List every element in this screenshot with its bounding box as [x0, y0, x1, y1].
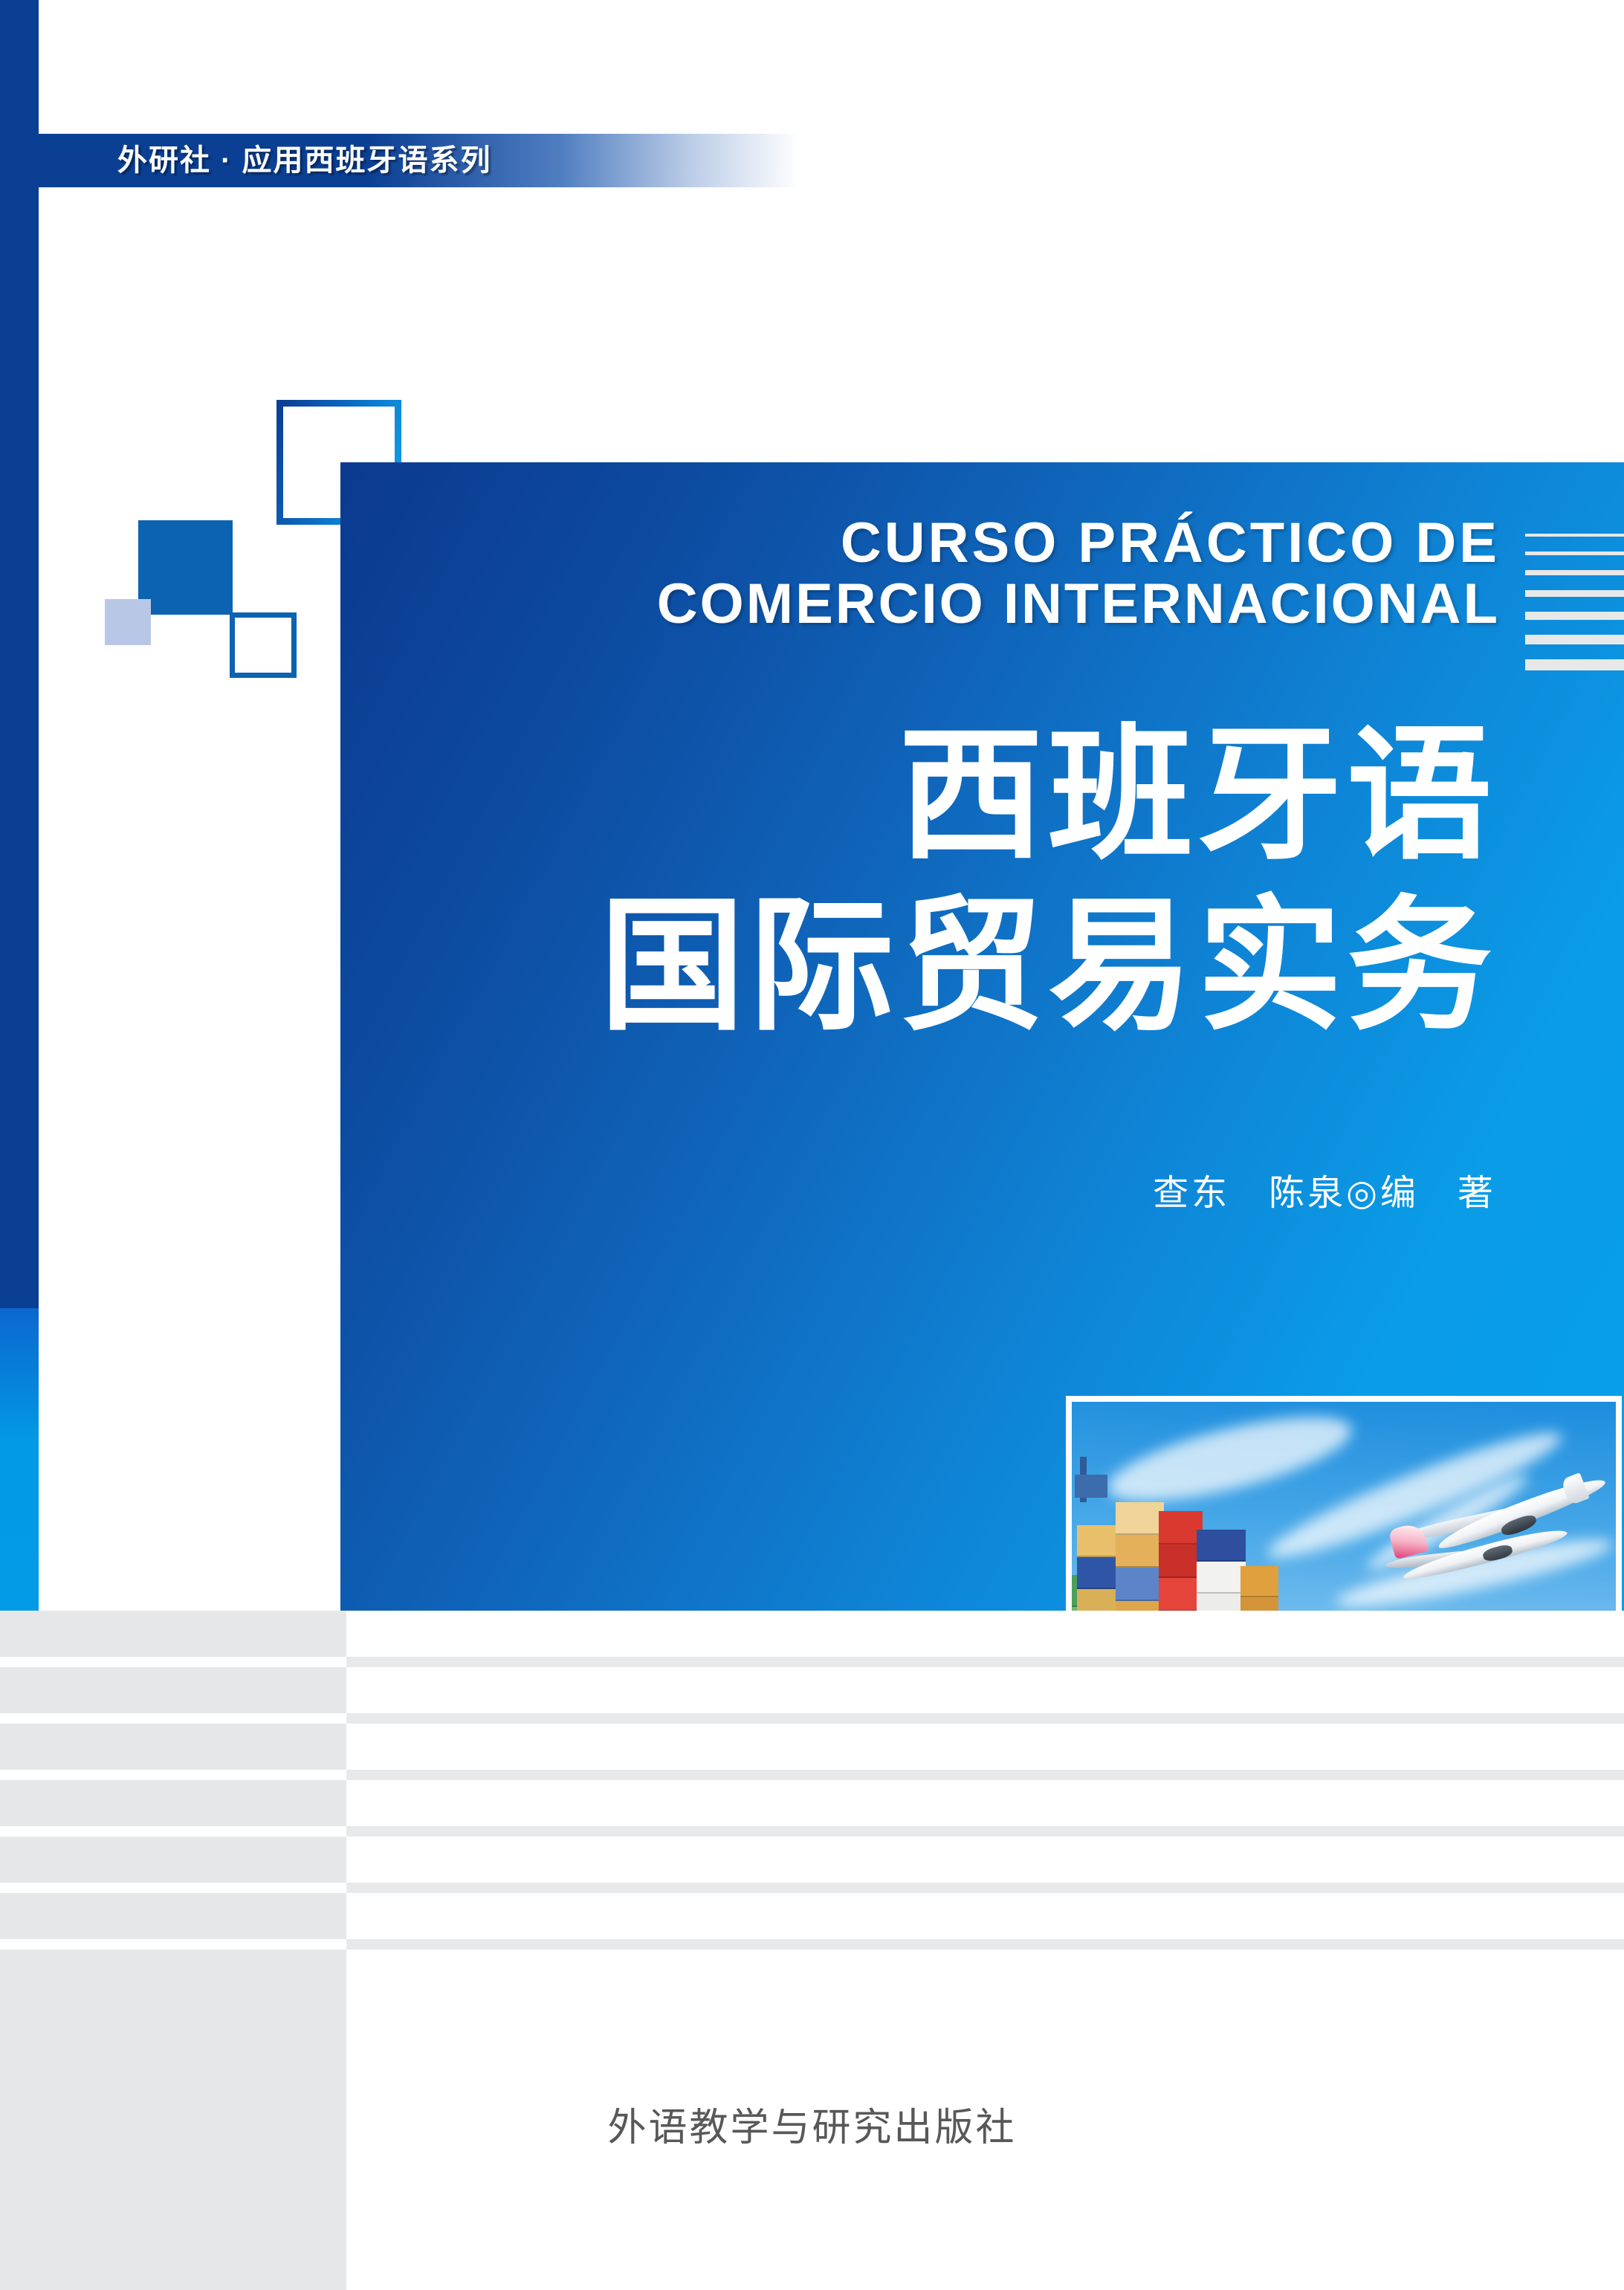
decorative-square-outline-small — [230, 612, 297, 678]
chinese-title-line-2: 国际贸易实务 — [340, 881, 1496, 1052]
spanish-title-line-1: CURSO PRÁCTICO DE — [340, 513, 1500, 574]
author-line: 查东 陈泉◎编 著 — [340, 1163, 1496, 1215]
cloud-shape — [1101, 1402, 1358, 1518]
book-cover: 外研社 · 应用西班牙语系列 CURSO PRÁCTICO DE COMERCI… — [0, 0, 1624, 2290]
decorative-square-lavender — [105, 599, 151, 645]
publisher-name: 外语教学与研究出版社 — [0, 2096, 1624, 2152]
decorative-rules — [1525, 534, 1624, 685]
spanish-title-line-2: COMERCIO INTERNACIONAL — [340, 574, 1500, 635]
ship-bridge — [1075, 1475, 1107, 1498]
decorative-square-filled — [138, 520, 233, 615]
chinese-title: 西班牙语 国际贸易实务 — [340, 710, 1496, 1052]
cargo-airplane — [1382, 1470, 1610, 1607]
spine-cyan-bar — [0, 1308, 39, 1611]
series-label: 外研社 · 应用西班牙语系列 — [117, 134, 492, 187]
spanish-title: CURSO PRÁCTICO DE COMERCIO INTERNACIONAL — [340, 513, 1500, 635]
chinese-title-line-1: 西班牙语 — [340, 710, 1496, 881]
